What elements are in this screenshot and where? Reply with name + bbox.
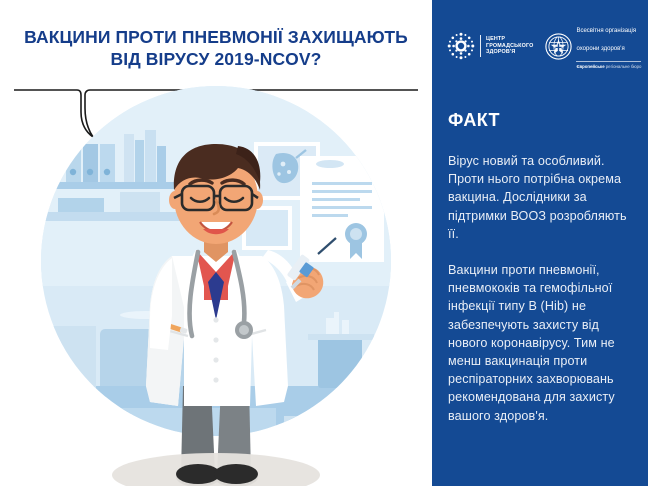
headline-line-1: ВАКЦИНИ ПРОТИ ПНЕВМОНІЇ ЗАХИЩАЮТЬ (24, 27, 408, 47)
radial-dots-logo-icon (446, 31, 476, 61)
cph-line-1: ЦЕНТР (486, 36, 505, 42)
headline-line-2: ВІД ВІРУСУ 2019-NCOV? (0, 48, 432, 70)
cph-line-2: ГРОМАДСЬКОГО (486, 43, 533, 49)
who-logo: Всесвітня організація охорони здоров'я Є… (545, 19, 648, 73)
who-sub-rest: регіональне бюро (606, 64, 642, 69)
public-health-center-name: ЦЕНТР ГРОМАДСЬКОГО ЗДОРОВ'Я (486, 36, 533, 56)
infographic-poster: ВАКЦИНИ ПРОТИ ПНЕВМОНІЇ ЗАХИЩАЮТЬ ВІД ВІ… (0, 0, 648, 486)
who-name-line-2: охорони здоров'я (576, 46, 624, 52)
illustration-panel: ВАКЦИНИ ПРОТИ ПНЕВМОНІЇ ЗАХИЩАЮТЬ ВІД ВІ… (0, 0, 432, 486)
logo-divider (480, 35, 481, 57)
fact-paragraph-1: Вірус новий та особливий. Проти нього по… (448, 152, 638, 243)
cph-line-3: ЗДОРОВ'Я (486, 49, 515, 55)
who-wordmark: Всесвітня організація охорони здоров'я Є… (576, 19, 648, 73)
who-regional-office: Європейське регіональне бюро (576, 61, 641, 69)
fact-heading: ФАКТ (448, 110, 500, 131)
who-emblem-icon (545, 33, 572, 60)
wall-certificate-poster (300, 156, 384, 262)
public-health-center-logo: ЦЕНТР ГРОМАДСЬКОГО ЗДОРОВ'Я (446, 30, 533, 62)
logo-bar: ЦЕНТР ГРОМАДСЬКОГО ЗДОРОВ'Я (432, 24, 648, 68)
fact-paragraph-2: Вакцини проти пневмонії, пневмококів та … (448, 261, 638, 425)
fact-body: Вірус новий та особливий. Проти нього по… (448, 152, 638, 425)
who-name-line-1: Всесвітня організація (576, 28, 636, 34)
doctor-illustration (0, 86, 432, 486)
page-title: ВАКЦИНИ ПРОТИ ПНЕВМОНІЇ ЗАХИЩАЮТЬ ВІД ВІ… (0, 26, 432, 70)
fact-panel: ЦЕНТР ГРОМАДСЬКОГО ЗДОРОВ'Я (432, 0, 648, 486)
who-name: Всесвітня організація охорони здоров'я (576, 28, 636, 52)
who-sub-bold: Європейське (576, 64, 604, 69)
